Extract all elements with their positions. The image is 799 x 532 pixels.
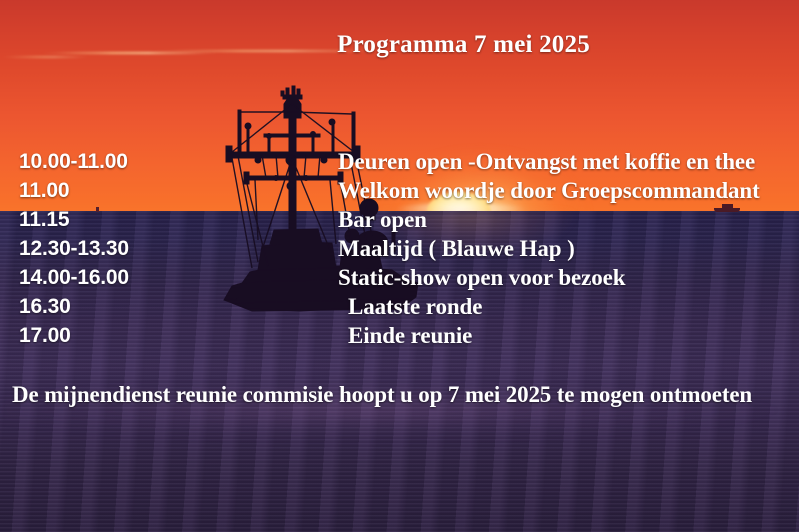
page-title: Programma 7 mei 2025 (0, 31, 799, 59)
schedule-row: 17.00 Einde reunie (0, 321, 799, 350)
schedule-row: 11.00 Welkom woordje door Groepscommanda… (0, 176, 799, 205)
schedule-time: 17.00 (19, 321, 71, 350)
schedule-row: 11.15 Bar open (0, 205, 799, 234)
schedule-time: 11.15 (19, 205, 69, 234)
schedule-time: 16.30 (19, 292, 71, 321)
schedule-list: 10.00-11.00 Deuren open -Ontvangst met k… (0, 147, 799, 350)
schedule-time: 12.30-13.30 (19, 234, 129, 263)
schedule-description: Deuren open -Ontvangst met koffie en the… (338, 147, 755, 176)
schedule-time: 14.00-16.00 (19, 263, 129, 292)
schedule-row: 10.00-11.00 Deuren open -Ontvangst met k… (0, 147, 799, 176)
poster-canvas: Programma 7 mei 2025 10.00-11.00 Deuren … (0, 0, 799, 532)
schedule-description: Static-show open voor bezoek (338, 263, 625, 292)
poster-content: Programma 7 mei 2025 10.00-11.00 Deuren … (0, 0, 799, 532)
schedule-description: Maaltijd ( Blauwe Hap ) (338, 234, 575, 263)
schedule-description: Laatste ronde (348, 292, 482, 321)
schedule-row: 16.30 Laatste ronde (0, 292, 799, 321)
schedule-time: 10.00-11.00 (19, 147, 128, 176)
schedule-row: 12.30-13.30 Maaltijd ( Blauwe Hap ) (0, 234, 799, 263)
schedule-description: Welkom woordje door Groepscommandant (338, 176, 760, 205)
schedule-time: 11.00 (19, 176, 69, 205)
schedule-row: 14.00-16.00 Static-show open voor bezoek (0, 263, 799, 292)
closing-message: De mijnendienst reunie commisie hoopt u … (12, 382, 752, 408)
schedule-description: Bar open (338, 205, 427, 234)
schedule-description: Einde reunie (348, 321, 472, 350)
